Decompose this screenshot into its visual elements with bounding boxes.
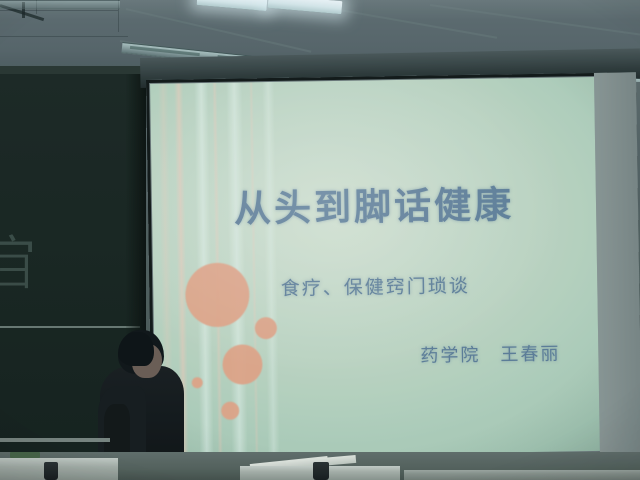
projected-slide: 从头到脚话健康 食疗、保健窍门琐谈 药学院 王春丽 [150, 77, 600, 458]
projector-screen: 从头到脚话健康 食疗、保健窍门琐谈 药学院 王春丽 [146, 72, 640, 462]
ceiling-light-strip [0, 0, 120, 9]
desk-right [404, 470, 640, 480]
decor-circle-medium [222, 344, 263, 385]
photo-scene: 宀 ⺕ 从头到脚话健康 食疗、保健窍门琐谈 药学院 王春丽 [0, 0, 640, 480]
lecturer-hair-fringe [118, 332, 154, 366]
cup-center [313, 462, 329, 480]
cup-left [44, 462, 58, 480]
slide-subtitle: 食疗、保健窍门琐谈 [153, 269, 597, 303]
ceiling-grid-line [0, 36, 128, 37]
ceiling-light-panel [197, 0, 268, 11]
screen-streak [249, 82, 259, 456]
chalk-ledge [0, 326, 140, 328]
decor-circle-tiny [192, 377, 203, 388]
desk-rail [0, 438, 110, 442]
ceiling-light-panel [268, 0, 343, 14]
desk-left [0, 458, 118, 480]
lamp-tube [130, 46, 200, 56]
screen-side-margin [594, 72, 640, 455]
screen-streak [262, 82, 280, 456]
slide-presenter: 药学院 王春丽 [420, 340, 560, 368]
slide-title: 从头到脚话健康 [152, 173, 597, 234]
decor-circle-small [255, 317, 277, 339]
decor-circle-tiny [221, 402, 239, 420]
chalk-writing: ⺕ [0, 252, 34, 292]
